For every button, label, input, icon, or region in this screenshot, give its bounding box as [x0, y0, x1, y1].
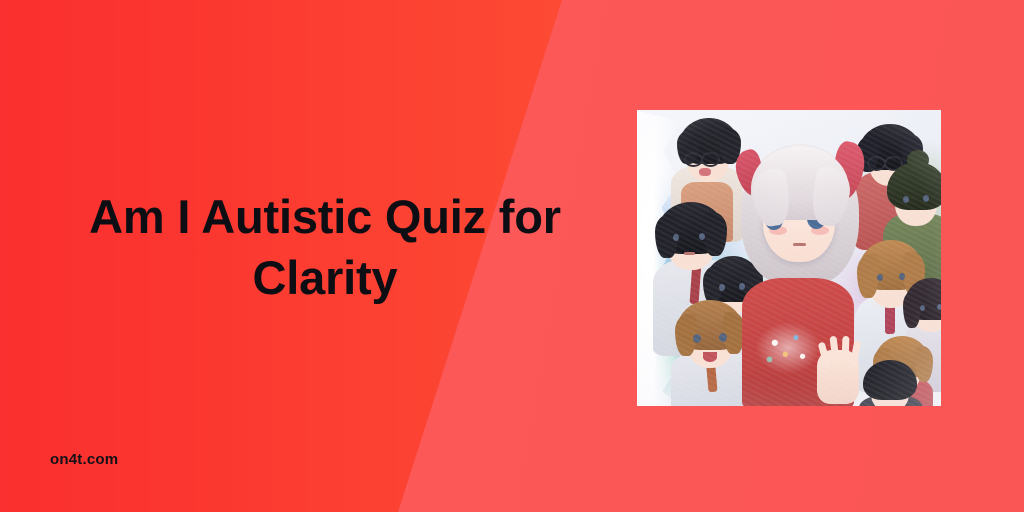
artwork-canvas	[637, 110, 941, 406]
page-title: Am I Autistic Quiz for Clarity	[30, 186, 620, 308]
center-girl-sparkle-effect	[755, 322, 821, 374]
anime-collage-artwork	[637, 110, 941, 406]
site-watermark: on4t.com	[50, 451, 118, 468]
promo-banner: Am I Autistic Quiz for Clarity on4t.com	[0, 0, 1024, 512]
